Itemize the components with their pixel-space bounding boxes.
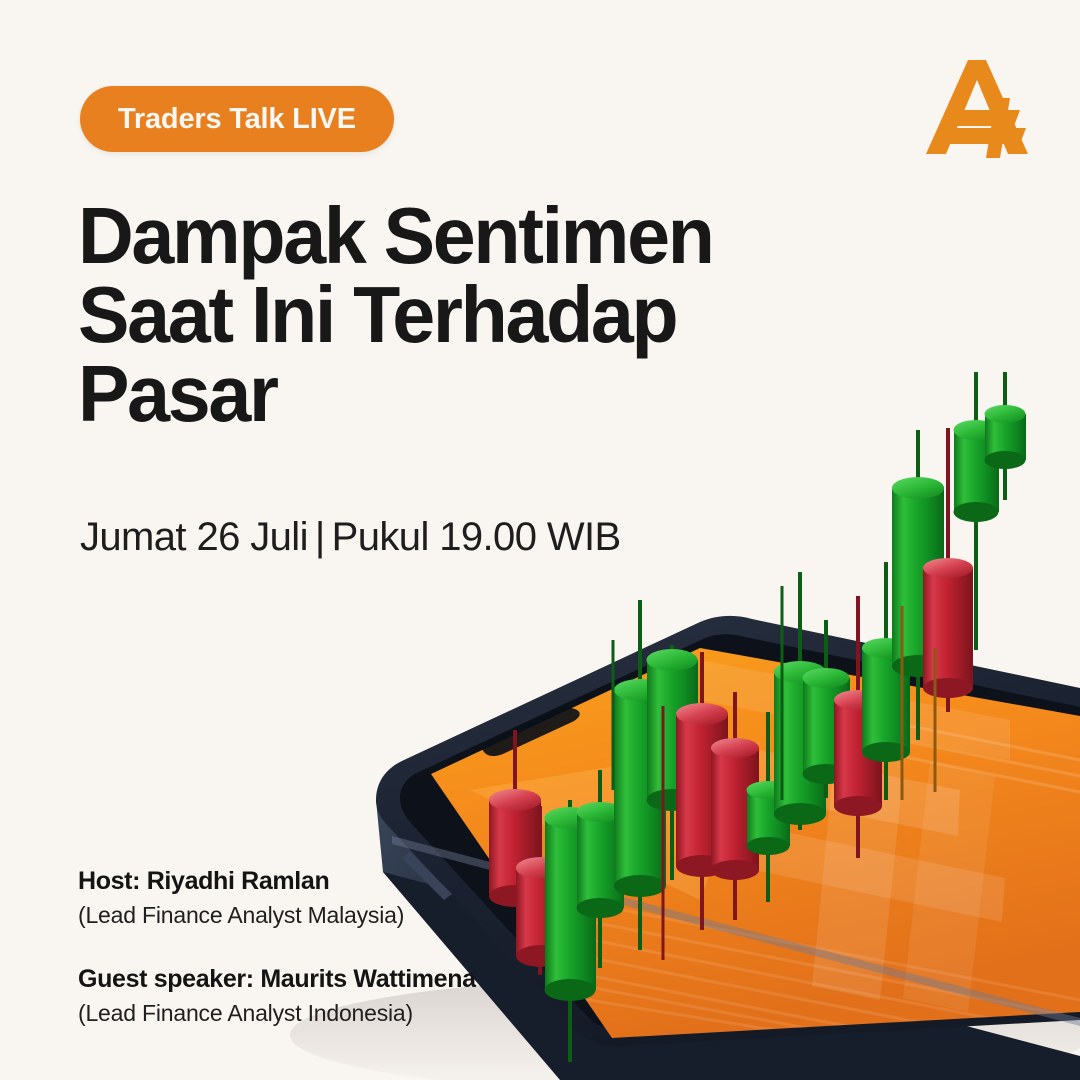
credit-host-name: Host: Riyadhi Ramlan xyxy=(78,866,476,897)
credit-guest-name: Guest speaker: Maurits Wattimena xyxy=(78,964,476,995)
credit-host-role: (Lead Finance Analyst Malaysia) xyxy=(78,901,476,931)
credit-guest: Guest speaker: Maurits Wattimena (Lead F… xyxy=(78,964,476,1029)
credit-host: Host: Riyadhi Ramlan (Lead Finance Analy… xyxy=(78,866,476,931)
poster-canvas: Traders Talk LIVE Dampak Sentimen Saat I… xyxy=(0,0,1080,1080)
credit-guest-role: (Lead Finance Analyst Indonesia) xyxy=(78,999,476,1029)
credits-block: Host: Riyadhi Ramlan (Lead Finance Analy… xyxy=(78,866,476,1029)
